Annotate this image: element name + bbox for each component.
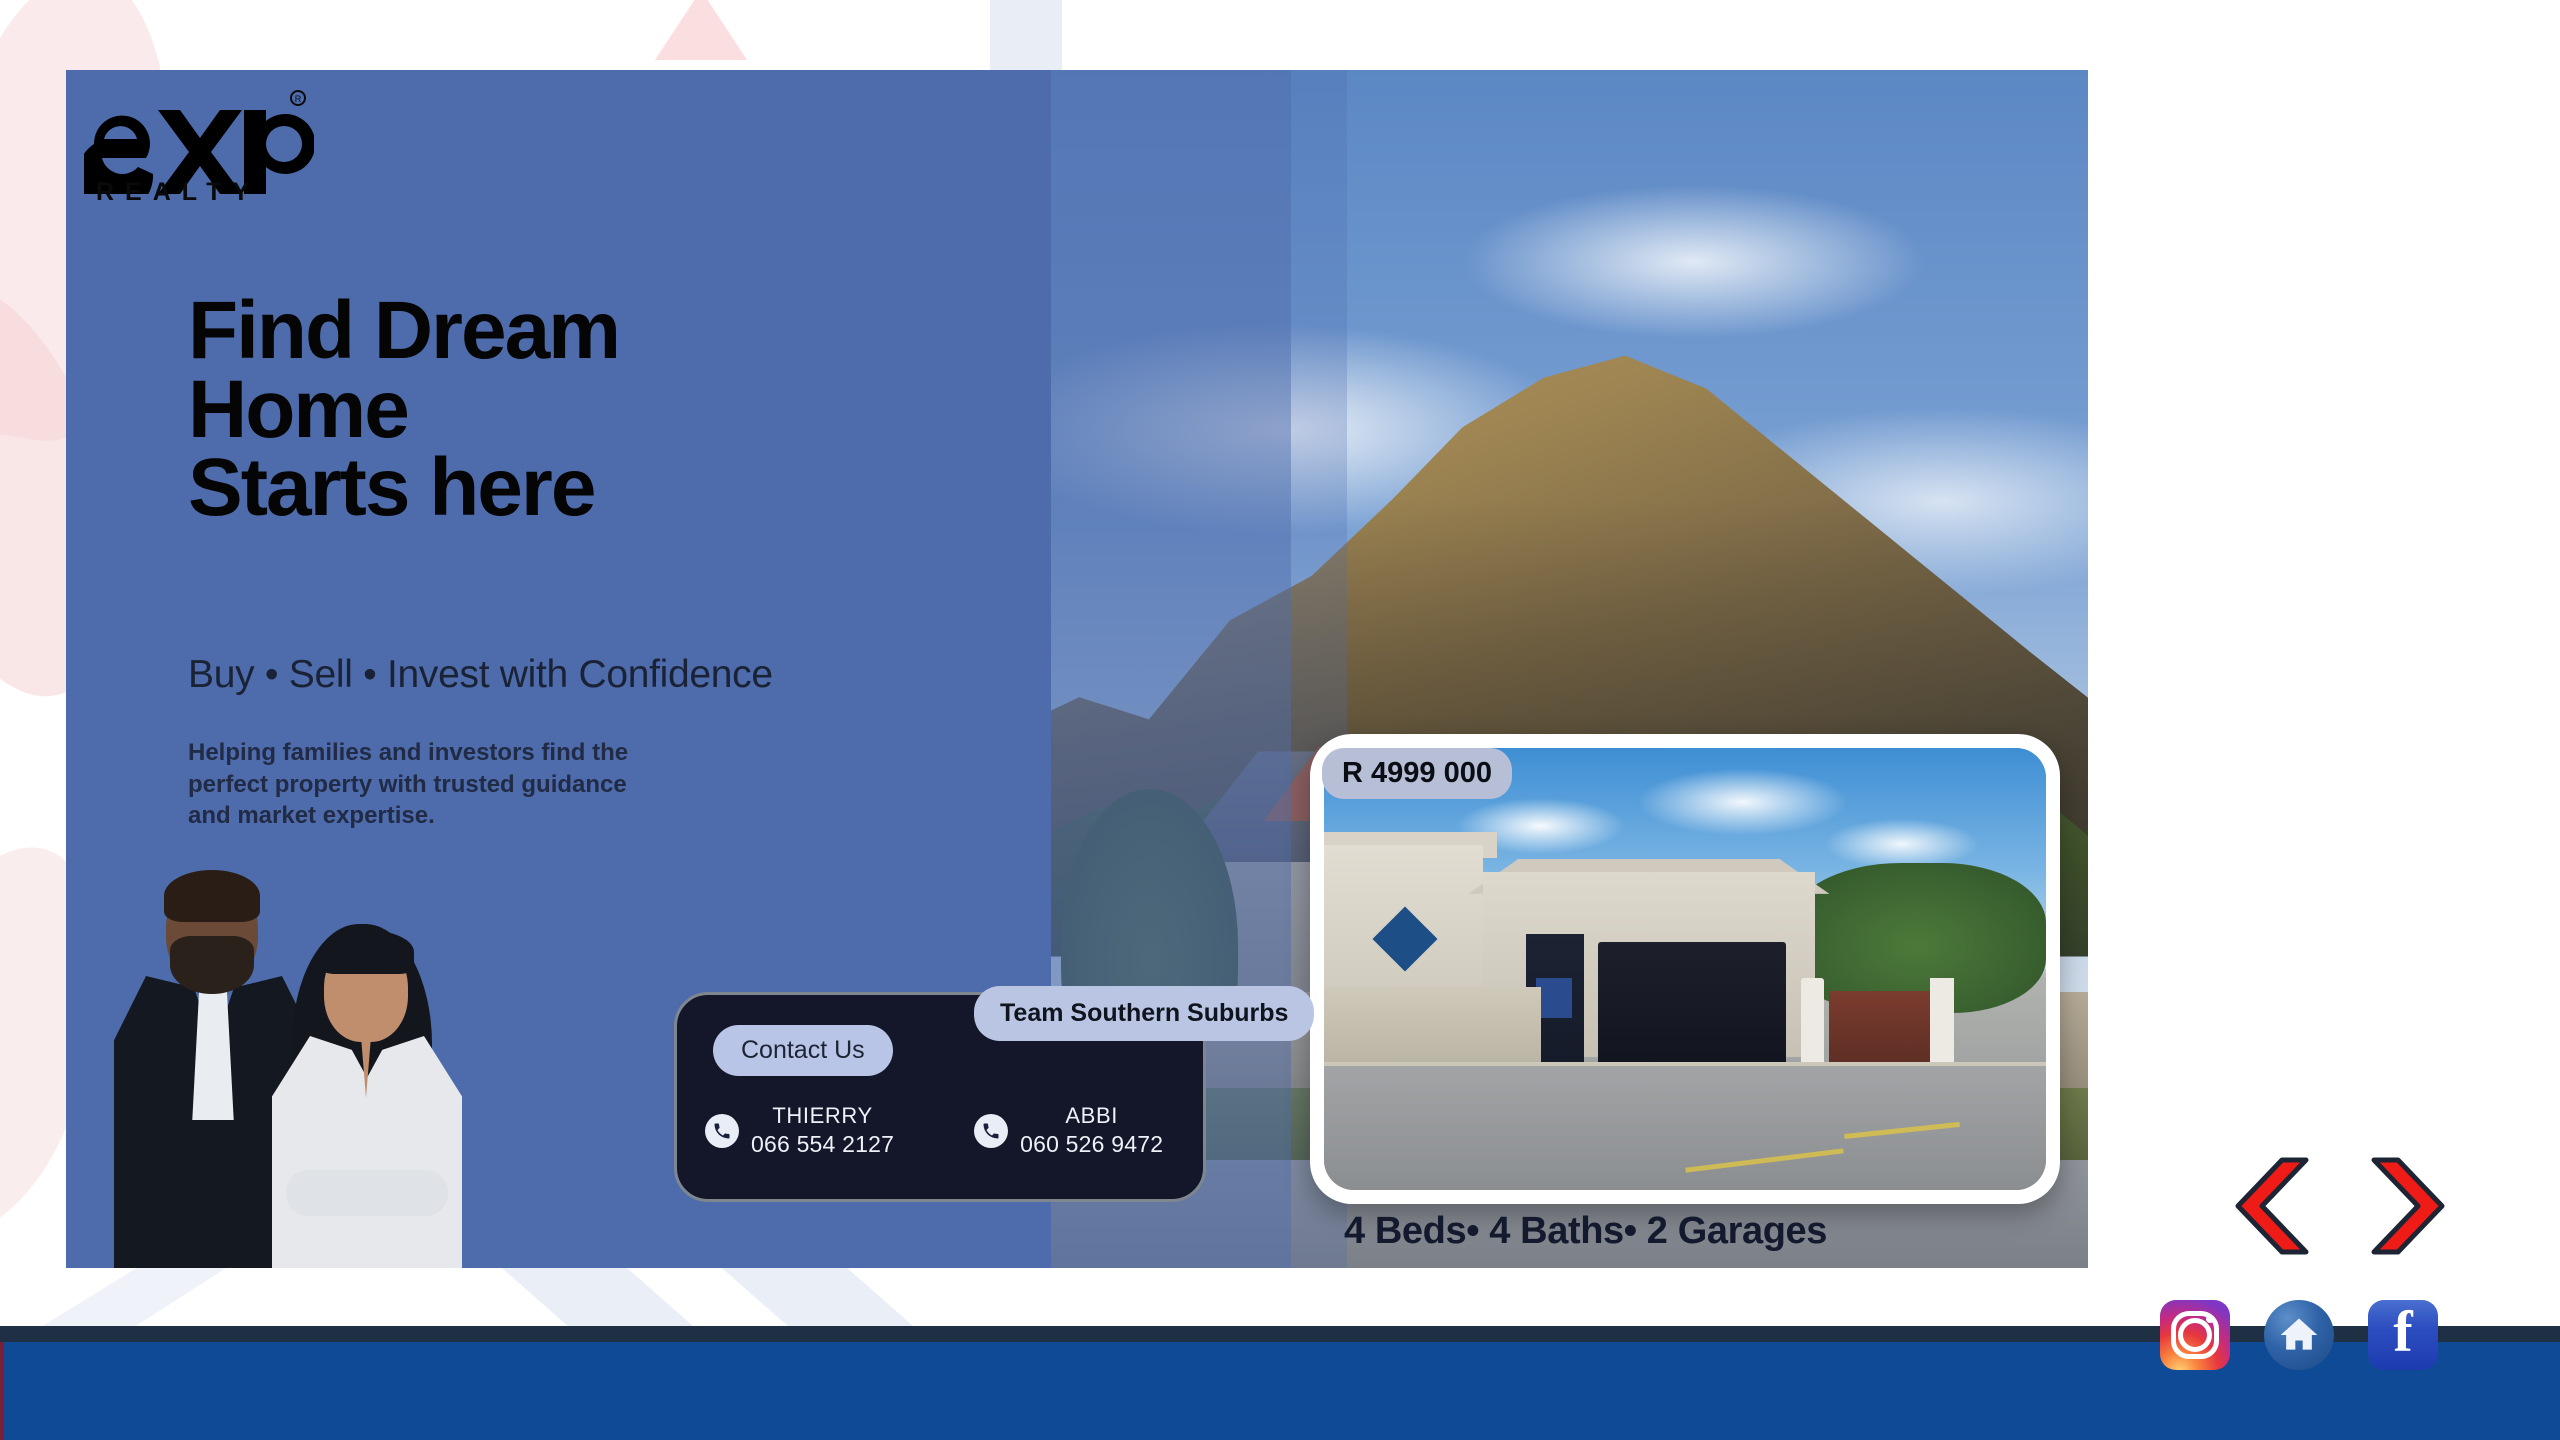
bottom-bar-left-edge: [0, 1342, 4, 1440]
property-for-sale-sign: [1536, 978, 1572, 1018]
contact-text-2: ABBI 060 526 9472: [1020, 1103, 1163, 1158]
instagram-lens: [2178, 1318, 2212, 1352]
property-card[interactable]: R 4999 000: [1310, 734, 2060, 1204]
instagram-dot: [2206, 1315, 2214, 1323]
contact-list: THIERRY 066 554 2127 ABBI 060 526 9472: [705, 1103, 1163, 1158]
contact-text-1: THIERRY 066 554 2127: [751, 1103, 894, 1158]
agent-male-hair: [164, 870, 260, 922]
svg-text:R: R: [295, 94, 302, 104]
agent-female-arms: [286, 1170, 448, 1216]
contact-phone-1: 066 554 2127: [751, 1131, 894, 1158]
home-icon[interactable]: [2264, 1300, 2334, 1370]
watermark-triangle: [655, 0, 747, 60]
contact-phone-2: 060 526 9472: [1020, 1131, 1163, 1158]
property-garage-door: [1598, 942, 1786, 1066]
hero-body-copy: Helping families and investors find the …: [188, 737, 628, 832]
chevron-left-icon[interactable]: [2220, 1154, 2312, 1258]
property-photo: [1324, 748, 2046, 1190]
contact-name-2: ABBI: [1020, 1103, 1163, 1129]
agent-photo-female: [262, 916, 470, 1268]
phone-icon: [974, 1114, 1008, 1148]
hero-subheadline: Buy • Sell • Invest with Confidence: [188, 653, 773, 697]
listing-features: 4 Beds• 4 Baths• 2 Garages: [1344, 1210, 1827, 1253]
contact-name-1: THIERRY: [751, 1103, 894, 1129]
social-links: f: [2160, 1300, 2438, 1370]
phone-icon: [705, 1114, 739, 1148]
property-pillar-left: [1801, 978, 1824, 1075]
property-flyer: R REALTY Find Dream Home Starts here Buy…: [66, 70, 2088, 1268]
agent-male-beard: [170, 936, 254, 994]
logo-subtitle: REALTY: [96, 178, 314, 207]
instagram-icon[interactable]: [2160, 1300, 2230, 1370]
agent-photos: [66, 860, 506, 1268]
price-badge: R 4999 000: [1322, 748, 1512, 799]
team-badge: Team Southern Suburbs: [974, 986, 1314, 1041]
agent-female-hair-front: [320, 930, 414, 974]
home-glyph: [2277, 1313, 2321, 1357]
carousel-navigation: [2220, 1154, 2460, 1258]
page-title: Find Dream Home Starts here: [188, 292, 619, 528]
contact-us-button[interactable]: Contact Us: [713, 1025, 893, 1076]
property-pillar-right: [1930, 978, 1953, 1075]
facebook-icon[interactable]: f: [2368, 1300, 2438, 1370]
property-wood-fence: [1829, 991, 1930, 1066]
contact-item-1[interactable]: THIERRY 066 554 2127: [705, 1103, 894, 1158]
chevron-right-icon[interactable]: [2368, 1154, 2460, 1258]
exp-realty-logo: R REALTY: [84, 82, 314, 207]
contact-item-2[interactable]: ABBI 060 526 9472: [974, 1103, 1163, 1158]
